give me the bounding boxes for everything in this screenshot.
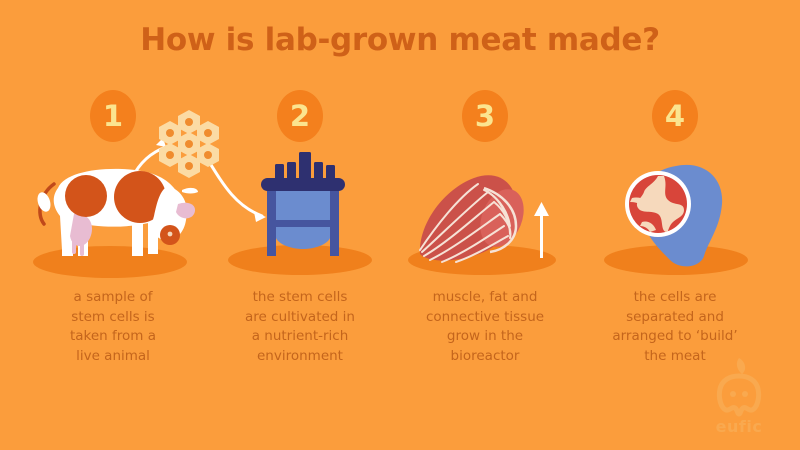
step-caption-2: the stem cellsare cultivated ina nutrien…: [201, 288, 399, 366]
step-badge-4: 4: [652, 90, 698, 142]
step-2: 2 the stem cellsare cultivat: [205, 90, 395, 390]
step-caption-4: the cells areseparated andarranged to ‘b…: [576, 288, 774, 366]
reactor-tube-3: [299, 152, 311, 180]
step-badge-3: 3: [462, 90, 508, 142]
cow-nostril: [168, 232, 173, 237]
step-3: 3 muscle, fat andconnective tissuegrow i…: [390, 90, 580, 390]
muscle-tissue-illustration: [390, 142, 580, 282]
apple-eye-right: [742, 391, 748, 397]
apple-eye-left: [730, 391, 736, 397]
step-caption-1: a sample ofstem cells istaken from alive…: [14, 288, 212, 366]
step-1: 1: [18, 90, 208, 390]
step-4: 4 the cells areseparated andarranged to …: [580, 90, 770, 390]
infographic-canvas: How is lab-grown meat made?: [0, 0, 800, 450]
bioreactor-illustration: [205, 142, 395, 282]
step-badge-1: 1: [90, 90, 136, 142]
apple-outline: [719, 376, 758, 414]
ground-shadow: [228, 245, 372, 275]
eufic-wordmark: eufic: [702, 417, 776, 436]
reactor-tube-5: [326, 165, 335, 180]
step-caption-3: muscle, fat andconnective tissuegrow in …: [386, 288, 584, 366]
reactor-tube-1: [275, 164, 284, 180]
reactor-tube-4: [314, 162, 323, 180]
cow-spot-1: [65, 175, 107, 217]
page-title: How is lab-grown meat made?: [0, 22, 800, 58]
cow-illustration: [18, 142, 208, 282]
reactor-tube-2: [287, 162, 296, 180]
meat-cut-illustration: [580, 142, 770, 282]
step-badge-2: 2: [277, 90, 323, 142]
reactor-frame-mid: [267, 220, 339, 227]
cow-horn: [182, 188, 198, 194]
cow-tail-tuft: [35, 191, 53, 214]
apple-leaf: [737, 358, 745, 374]
reactor-lid: [261, 178, 345, 191]
ground-shadow: [33, 246, 187, 278]
arrow-up-growth: [534, 202, 549, 258]
